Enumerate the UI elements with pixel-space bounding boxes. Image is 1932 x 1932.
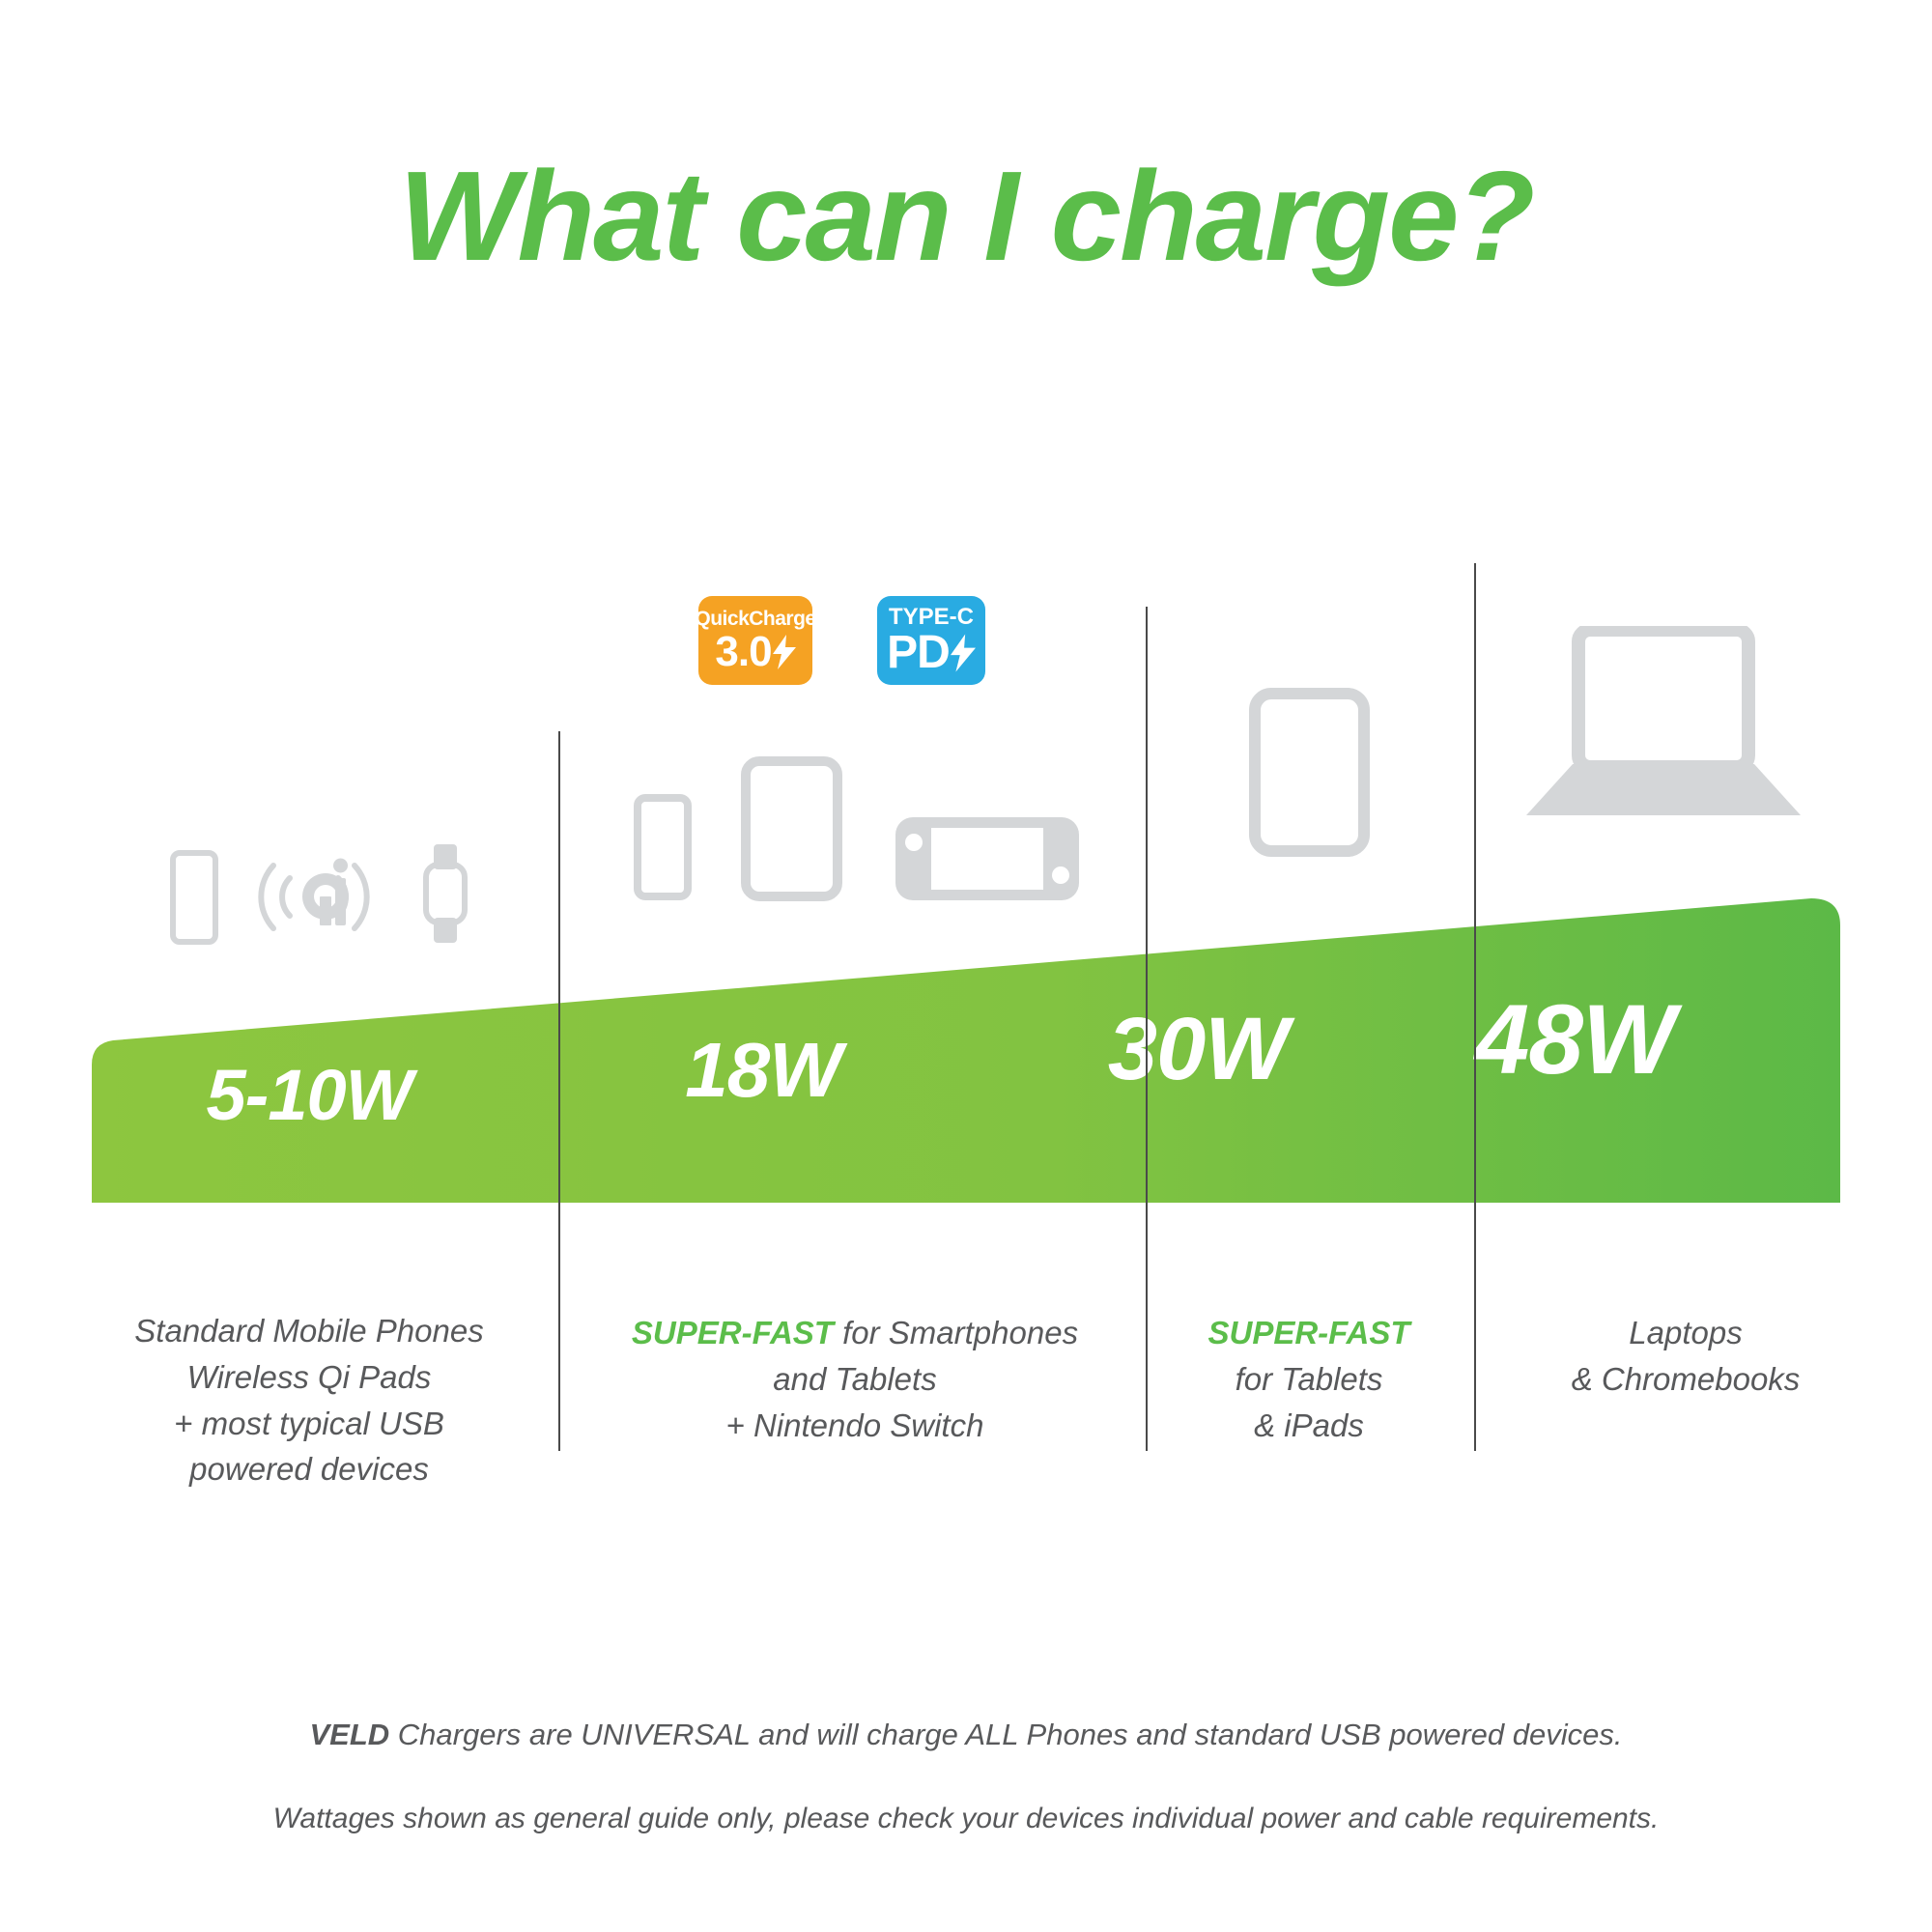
caption-tier-5-10w: Standard Mobile Phones Wireless Qi Pads …	[68, 1262, 551, 1492]
caption-highlight: SUPER-FAST	[632, 1315, 834, 1350]
nintendo-switch-icon	[895, 817, 1079, 900]
quickcharge-label: QuickCharge	[698, 609, 812, 629]
page-title: What can I charge?	[0, 153, 1932, 280]
lightning-bolt-icon	[951, 634, 976, 672]
smartphone-icon	[634, 794, 692, 900]
caption-text: Standard Mobile Phones Wireless Qi Pads …	[134, 1313, 483, 1488]
quickcharge-version: 3.0	[715, 631, 795, 673]
footer-line-2: Wattages shown as general guide only, pl…	[0, 1803, 1932, 1835]
pd-label: PD	[887, 630, 976, 676]
column-divider-3	[1474, 563, 1476, 1451]
caption-highlight: SUPER-FAST	[1207, 1315, 1409, 1350]
footer-line-1: VELD Chargers are UNIVERSAL and will cha…	[0, 1718, 1932, 1752]
wattage-label-18w: 18W	[599, 1032, 927, 1109]
caption-tier-48w: Laptops & Chromebooks	[1492, 1264, 1879, 1403]
caption-tier-30w: SUPER-FAST for Tablets & iPads	[1159, 1264, 1459, 1448]
wattage-label-5-10w: 5-10W	[135, 1060, 483, 1131]
quickcharge-3-0-badge: QuickCharge 3.0	[698, 596, 812, 685]
tablet-icon	[741, 756, 842, 901]
type-c-pd-badge: TYPE-C PD	[877, 596, 985, 685]
lightning-bolt-icon	[773, 635, 796, 669]
laptop-icon	[1524, 626, 1803, 819]
footer-line-1-text: Chargers are UNIVERSAL and will charge A…	[389, 1718, 1622, 1751]
type-c-label: TYPE-C	[889, 606, 974, 629]
column-divider-1	[558, 731, 560, 1451]
caption-text: Laptops & Chromebooks	[1572, 1315, 1801, 1397]
wattage-label-30w: 30W	[1043, 1005, 1352, 1094]
column-divider-2	[1146, 607, 1148, 1451]
brand-name: VELD	[309, 1718, 389, 1751]
caption-text: for Tablets & iPads	[1236, 1361, 1383, 1443]
infographic-page: What can I charge? QuickCharge 3.0 TYPE-…	[0, 0, 1932, 1932]
wattage-label-48w: 48W	[1391, 990, 1758, 1089]
tablet-icon	[1249, 688, 1370, 857]
caption-tier-18w: SUPER-FAST for Smartphones and Tablets +…	[580, 1264, 1130, 1448]
